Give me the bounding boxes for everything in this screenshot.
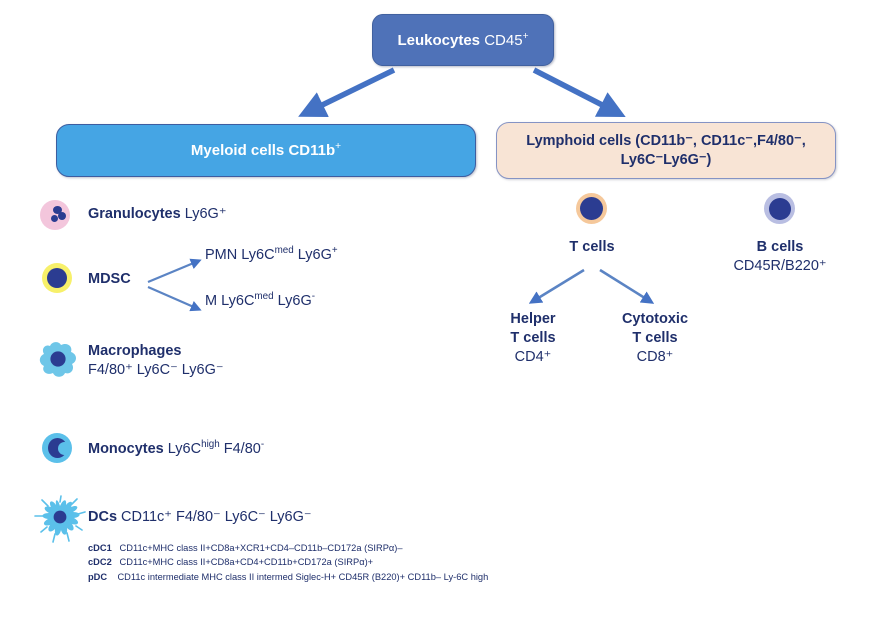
t-cell-icon: [576, 193, 607, 224]
dc-subset-row: pDC CD11c intermediate MHC class II inte…: [88, 570, 488, 584]
mdsc-branch-pmn: PMN Ly6Cmed Ly6G+: [205, 246, 338, 265]
macrophages-label: Macrophages F4/80⁺ Ly6C⁻ Ly6G⁻: [88, 342, 224, 380]
monocytes-label: Monocytes Ly6Chigh F4/80-: [88, 440, 264, 459]
leukocytes-label: Leukocytes CD45+: [397, 32, 528, 49]
lymphoid-cells-node: Lymphoid cells (CD11b⁻, CD11c⁻,F4/80⁻, L…: [496, 122, 836, 179]
dc-subsets-table: cDC1 CD11c+MHC class II+CD8a+XCR1+CD4–CD…: [88, 541, 488, 584]
diagram-canvas: Leukocytes CD45+ Myeloid cells CD11b+ Ly…: [0, 0, 892, 618]
dc-subset-row: cDC1 CD11c+MHC class II+CD8a+XCR1+CD4–CD…: [88, 541, 488, 555]
dcs-label: DCs CD11c⁺ F4/80⁻ Ly6C⁻ Ly6G⁻: [88, 508, 312, 527]
leukocytes-node: Leukocytes CD45+: [372, 14, 554, 66]
myeloid-cells-node: Myeloid cells CD11b+: [56, 124, 476, 177]
cytotoxic-t-cells-label: Cytotoxic T cells CD8⁺: [596, 310, 714, 367]
dendritic-cell-icon: [34, 496, 86, 544]
t-cells-label: T cells: [542, 238, 642, 257]
granulocyte-icon: [40, 200, 70, 230]
dc-subset-row: cDC2 CD11c+MHC class II+CD8a+CD4+CD11b+C…: [88, 555, 488, 569]
helper-t-cells-label: Helper T cells CD4⁺: [478, 310, 588, 367]
mdsc-label: MDSC: [88, 270, 131, 289]
myeloid-label: Myeloid cells CD11b+: [191, 142, 341, 159]
lymphoid-label: Lymphoid cells (CD11b⁻, CD11c⁻,F4/80⁻, L…: [526, 132, 806, 169]
granulocytes-label: Granulocytes Ly6G⁺: [88, 205, 226, 224]
mdsc-branch-m: M Ly6Cmed Ly6G-: [205, 292, 315, 311]
b-cell-icon: [764, 193, 795, 224]
macrophage-icon: [36, 340, 80, 380]
mdsc-icon: [42, 263, 72, 293]
monocyte-icon: [42, 433, 72, 463]
b-cells-label: B cells CD45R/B220⁺: [714, 238, 846, 276]
